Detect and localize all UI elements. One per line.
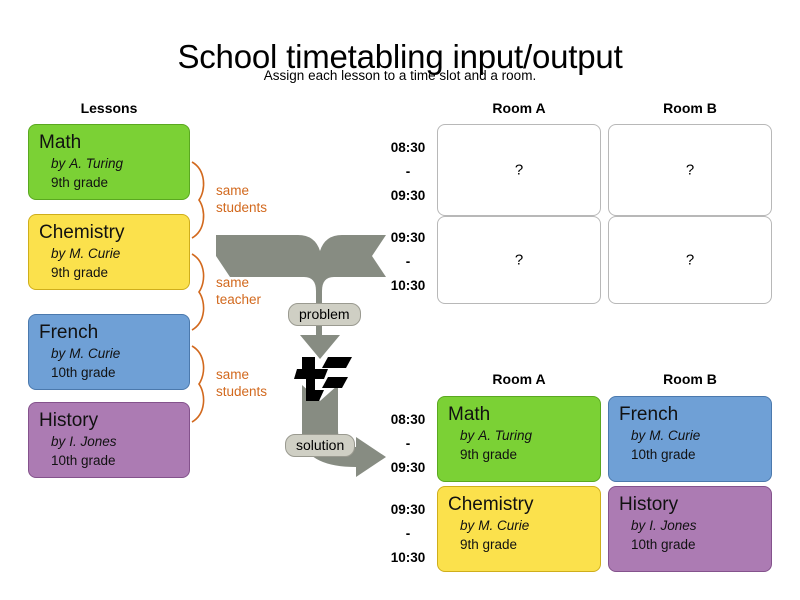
timeslot-dash: - [376,432,440,456]
by-label: by [51,434,65,449]
teacher-name: A. Turing [478,428,532,443]
output-cell-1-1-history[interactable]: History byI. Jones 10th grade [608,486,772,572]
lesson-teacher: byM. Curie [619,426,761,445]
lesson-grade: 10th grade [619,535,761,554]
lesson-grade: 10th grade [619,445,761,464]
by-label: by [51,156,65,171]
timeslot-end: 09:30 [376,184,440,208]
lesson-teacher: byM. Curie [39,344,179,363]
output-timeslot-1: 09:30 - 10:30 [376,498,440,570]
lesson-subject: Math [39,132,179,154]
input-timeslot-1: 09:30 - 10:30 [376,226,440,298]
timeslot-end: 09:30 [376,456,440,480]
placeholder-question-mark: ? [609,162,771,179]
lesson-subject: Chemistry [448,494,590,516]
lesson-grade: 9th grade [448,535,590,554]
output-timeslot-0: 08:30 - 09:30 [376,408,440,480]
timeslot-dash: - [376,160,440,184]
timeslot-start: 09:30 [376,226,440,250]
lesson-grade: 9th grade [448,445,590,464]
lesson-grade: 10th grade [39,363,179,382]
output-cell-0-0-math[interactable]: Math byA. Turing 9th grade [437,396,601,482]
lesson-teacher: byA. Turing [39,154,179,173]
problem-arrow-shape [216,235,386,359]
timeslot-dash: - [376,522,440,546]
output-cell-1-0-chemistry[interactable]: Chemistry byM. Curie 9th grade [437,486,601,572]
teacher-name: A. Turing [69,156,123,171]
by-label: by [631,518,645,533]
lesson-grade: 9th grade [39,263,179,282]
input-grid-room-a-caption: Room A [437,100,601,116]
input-grid-room-b-caption: Room B [608,100,772,116]
lesson-grade: 9th grade [39,173,179,192]
lesson-teacher: byI. Jones [619,516,761,535]
lesson-grade: 10th grade [39,451,179,470]
lesson-card-french[interactable]: French byM. Curie 10th grade [28,314,190,390]
output-grid-room-b-caption: Room B [608,371,772,387]
teacher-name: M. Curie [69,346,120,361]
constraint-label: same students [216,182,267,216]
by-label: by [51,346,65,361]
lesson-teacher: byM. Curie [39,244,179,263]
lesson-subject: French [619,404,761,426]
teacher-name: I. Jones [69,434,116,449]
lesson-subject: Math [448,404,590,426]
placeholder-question-mark: ? [438,162,600,179]
output-grid-room-a-caption: Room A [437,371,601,387]
timefold-logo [288,357,354,403]
lesson-card-chemistry[interactable]: Chemistry byM. Curie 9th grade [28,214,190,290]
teacher-name: M. Curie [478,518,529,533]
input-timeslot-0: 08:30 - 09:30 [376,136,440,208]
lesson-card-math[interactable]: Math byA. Turing 9th grade [28,124,190,200]
lesson-teacher: byI. Jones [39,432,179,451]
input-cell-1-1[interactable]: ? [608,216,772,304]
lesson-subject: French [39,322,179,344]
placeholder-question-mark: ? [438,252,600,269]
teacher-name: M. Curie [69,246,120,261]
page-subtitle: Assign each lesson to a time slot and a … [0,68,800,83]
teacher-name: I. Jones [649,518,696,533]
lesson-subject: Chemistry [39,222,179,244]
by-label: by [631,428,645,443]
output-cell-0-1-french[interactable]: French byM. Curie 10th grade [608,396,772,482]
solution-badge: solution [285,434,355,457]
by-label: by [460,518,474,533]
input-cell-0-0[interactable]: ? [437,124,601,216]
lessons-column-caption: Lessons [28,100,190,116]
timeslot-start: 08:30 [376,136,440,160]
lesson-teacher: byA. Turing [448,426,590,445]
lesson-card-history[interactable]: History byI. Jones 10th grade [28,402,190,478]
by-label: by [460,428,474,443]
timeslot-end: 10:30 [376,546,440,570]
input-cell-0-1[interactable]: ? [608,124,772,216]
timeslot-start: 09:30 [376,498,440,522]
problem-badge: problem [288,303,361,326]
placeholder-question-mark: ? [609,252,771,269]
timeslot-end: 10:30 [376,274,440,298]
input-cell-1-0[interactable]: ? [437,216,601,304]
timeslot-dash: - [376,250,440,274]
teacher-name: M. Curie [649,428,700,443]
lesson-subject: History [39,410,179,432]
lesson-subject: History [619,494,761,516]
by-label: by [51,246,65,261]
lesson-teacher: byM. Curie [448,516,590,535]
timeslot-start: 08:30 [376,408,440,432]
